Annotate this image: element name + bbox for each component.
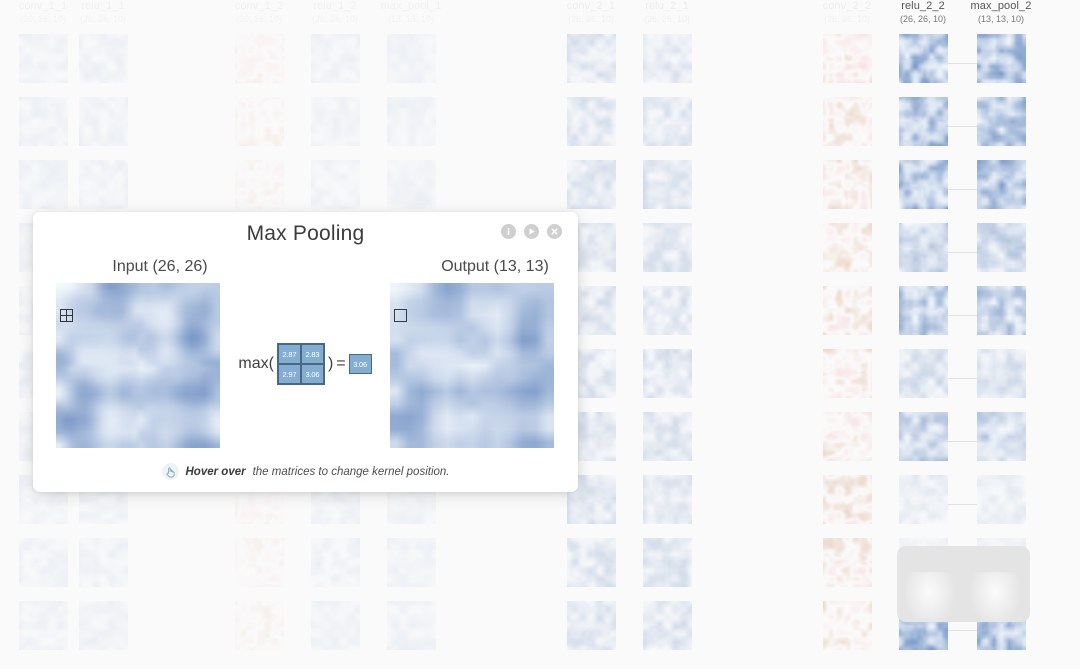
feature-map[interactable]: [567, 97, 616, 146]
kernel-cell: 2.83: [301, 344, 324, 364]
connector-line: [948, 630, 977, 631]
feature-map[interactable]: [643, 349, 692, 398]
feature-map[interactable]: [823, 34, 872, 83]
feature-map[interactable]: [567, 601, 616, 650]
feature-map[interactable]: [823, 223, 872, 272]
feature-map[interactable]: [643, 34, 692, 83]
pointing-hand-icon: [162, 463, 179, 480]
feature-map[interactable]: [977, 412, 1026, 461]
layer-label: max_pool_1: [381, 0, 442, 13]
connector-line: [948, 315, 977, 316]
feature-map[interactable]: [387, 160, 436, 209]
feature-map[interactable]: [823, 97, 872, 146]
feature-map[interactable]: [387, 97, 436, 146]
feature-map[interactable]: [899, 34, 948, 83]
feature-map[interactable]: [977, 475, 1026, 524]
layer-label: conv_2_2: [823, 0, 872, 13]
feature-map[interactable]: [79, 601, 128, 650]
feature-map[interactable]: [643, 223, 692, 272]
layer-dims: (26, 26, 10): [900, 13, 946, 25]
equation-max-open: max(: [238, 355, 274, 373]
feature-map[interactable]: [311, 34, 360, 83]
layer-dims: (26, 26, 10): [568, 13, 614, 25]
max-pooling-modal: Max Pooling Input (26, 26) Output (13, 1: [33, 212, 578, 492]
layer-label: conv_2_1: [567, 0, 616, 13]
connector-line: [948, 441, 977, 442]
feature-map[interactable]: [79, 538, 128, 587]
feature-map[interactable]: [311, 97, 360, 146]
feature-map[interactable]: [899, 223, 948, 272]
connector-line: [948, 189, 977, 190]
feature-map[interactable]: [823, 601, 872, 650]
layer-label: relu_1_1: [81, 0, 125, 13]
layer-dims: (26, 26, 10): [80, 13, 126, 25]
play-icon[interactable]: [524, 224, 539, 239]
modal-icon-group: [501, 224, 562, 239]
feature-map[interactable]: [823, 538, 872, 587]
feature-map[interactable]: [823, 160, 872, 209]
feature-map[interactable]: [567, 160, 616, 209]
feature-map[interactable]: [643, 286, 692, 335]
feature-map[interactable]: [643, 475, 692, 524]
feature-map[interactable]: [899, 286, 948, 335]
connector-line: [948, 63, 977, 64]
equation-close-paren: ): [328, 355, 333, 373]
modal-footer-hint: Hover over the matrices to change kernel…: [33, 463, 578, 480]
equation-equals: =: [336, 355, 345, 373]
feature-map[interactable]: [643, 601, 692, 650]
input-matrix[interactable]: [56, 283, 220, 448]
feature-map[interactable]: [977, 223, 1026, 272]
feature-map-stack: [823, 34, 872, 650]
layer-label: relu_1_2: [313, 0, 357, 13]
layer-dims: (13, 13, 10): [978, 13, 1024, 25]
pooling-equation: max( 2.87 2.83 2.97 3.06 ) = 3.06: [229, 334, 381, 394]
feature-map[interactable]: [79, 34, 128, 83]
feature-map[interactable]: [311, 538, 360, 587]
output-matrix-label: Output (13, 13): [391, 258, 599, 276]
kernel-cell: 2.97: [278, 364, 301, 384]
connector-line: [948, 378, 977, 379]
connector-line: [948, 126, 977, 127]
feature-map-stack: [643, 34, 692, 650]
equation-result-cell: 3.06: [349, 354, 372, 374]
output-matrix[interactable]: [390, 283, 554, 448]
layer-column-relu_2_1[interactable]: relu_2_1(26, 26, 10): [624, 0, 710, 650]
info-icon[interactable]: [501, 224, 516, 239]
feature-map[interactable]: [899, 349, 948, 398]
feature-map[interactable]: [643, 160, 692, 209]
connector-line: [948, 252, 977, 253]
feature-map[interactable]: [823, 412, 872, 461]
feature-map[interactable]: [643, 538, 692, 587]
feature-map[interactable]: [823, 349, 872, 398]
layer-dims: (26, 26, 10): [236, 13, 282, 25]
feature-map[interactable]: [311, 601, 360, 650]
close-icon[interactable]: [547, 224, 562, 239]
feature-map[interactable]: [899, 97, 948, 146]
layer-dims: (26, 26, 10): [644, 13, 690, 25]
feature-map[interactable]: [235, 538, 284, 587]
feature-map[interactable]: [311, 160, 360, 209]
hint-rest-text: the matrices to change kernel position.: [253, 466, 450, 478]
feature-map[interactable]: [977, 286, 1026, 335]
feature-map[interactable]: [387, 601, 436, 650]
feature-map[interactable]: [79, 97, 128, 146]
layer-column-conv_2_2[interactable]: conv_2_2(26, 26, 10): [804, 0, 890, 650]
modal-title: Max Pooling: [33, 222, 578, 246]
kernel-cell: 2.87: [278, 344, 301, 364]
layer-label: max_pool_2: [971, 0, 1032, 13]
feature-map[interactable]: [567, 34, 616, 83]
layer-label: relu_2_2: [901, 0, 945, 13]
feature-map[interactable]: [899, 475, 948, 524]
hint-strong-text: Hover over: [186, 466, 246, 478]
layer-dims: (26, 26, 10): [312, 13, 358, 25]
feature-map[interactable]: [387, 34, 436, 83]
feature-map[interactable]: [823, 475, 872, 524]
connector-line: [948, 504, 977, 505]
feature-map[interactable]: [643, 97, 692, 146]
feature-map[interactable]: [977, 349, 1026, 398]
layer-dims: (26, 26, 10): [824, 13, 870, 25]
kernel-value-grid: 2.87 2.83 2.97 3.06: [277, 343, 325, 385]
feature-map[interactable]: [899, 412, 948, 461]
feature-map[interactable]: [977, 34, 1026, 83]
input-matrix-label: Input (26, 26): [56, 258, 264, 276]
kernel-window-indicator[interactable]: [60, 309, 73, 322]
feature-map[interactable]: [235, 601, 284, 650]
feature-map[interactable]: [235, 160, 284, 209]
kernel-cell: 3.06: [301, 364, 324, 384]
feature-map[interactable]: [235, 97, 284, 146]
feature-map[interactable]: [235, 34, 284, 83]
layer-label: conv_1_2: [235, 0, 284, 13]
feature-map[interactable]: [643, 412, 692, 461]
cnn-explainer-app: conv_1_1(26, 26, 10)relu_1_1(26, 26, 10)…: [0, 0, 1080, 669]
feature-map[interactable]: [567, 538, 616, 587]
layer-dims: (13, 13, 10): [388, 13, 434, 25]
feature-map[interactable]: [387, 538, 436, 587]
layer-label: relu_2_1: [645, 0, 689, 13]
feature-map[interactable]: [899, 160, 948, 209]
feature-map[interactable]: [79, 160, 128, 209]
highlighted-feature-map-pair[interactable]: [897, 546, 1030, 622]
feature-map[interactable]: [823, 286, 872, 335]
feature-map[interactable]: [977, 160, 1026, 209]
feature-map[interactable]: [977, 97, 1026, 146]
output-cell-indicator[interactable]: [394, 309, 407, 322]
